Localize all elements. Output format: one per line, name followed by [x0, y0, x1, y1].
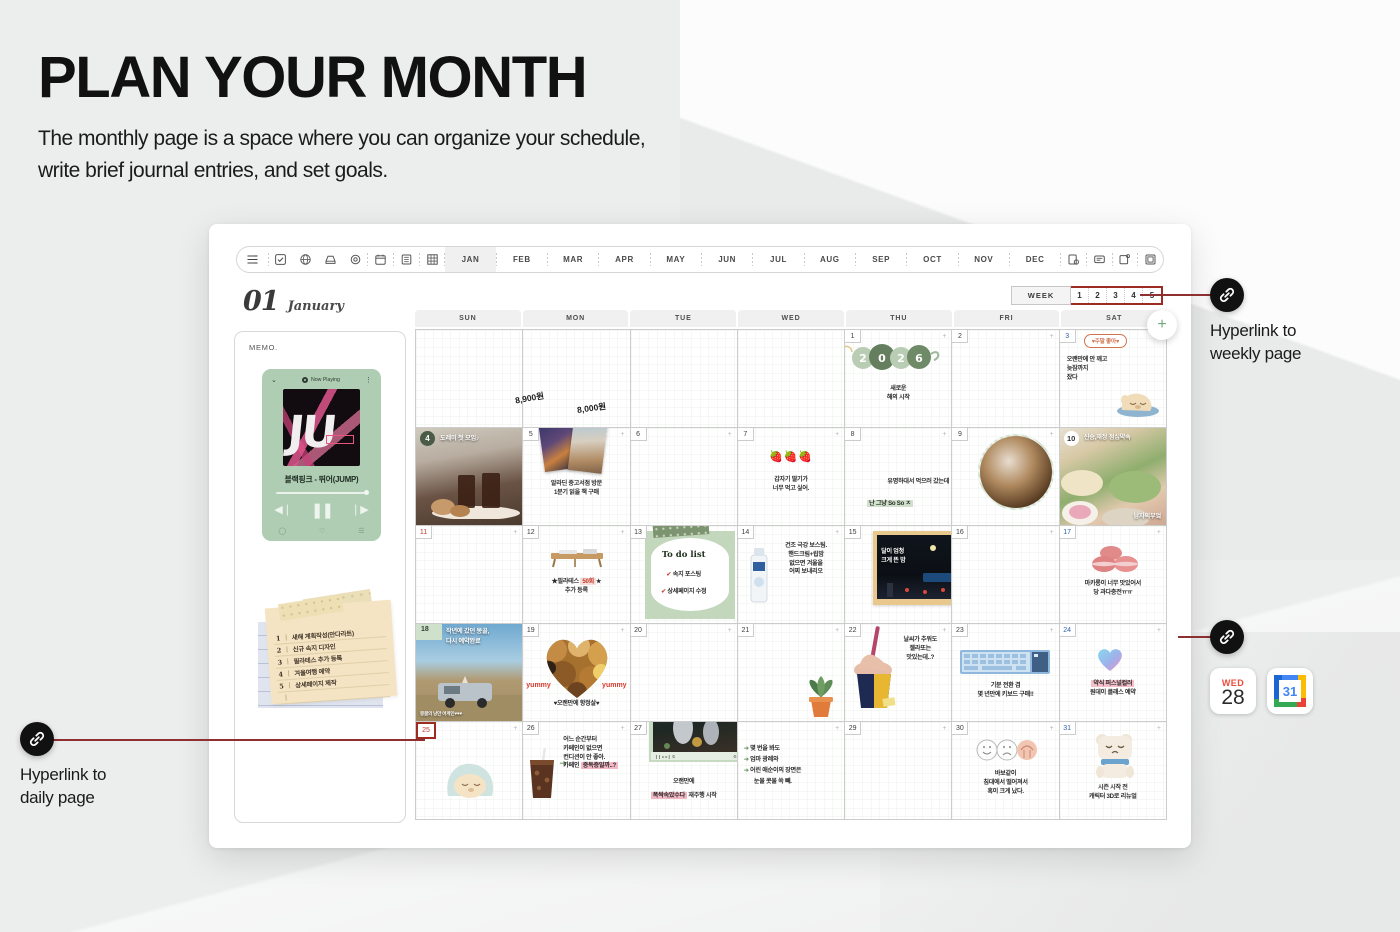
caterpillar-2026-graphic: 2 0 2 6 — [845, 342, 943, 376]
day-note-line1: 달이 엄청 — [881, 548, 904, 555]
week-link-2[interactable]: 2 — [1089, 288, 1107, 303]
add-icon[interactable]: + — [834, 530, 840, 536]
tab-month-apr[interactable]: APR — [599, 247, 649, 272]
annotation-daily-text: Hyperlink to daily page — [20, 764, 200, 810]
day-note[interactable]: 약식 퍼스널컬러 원데이 클래스 예약 — [1060, 680, 1166, 698]
todo-divider: | — [288, 682, 290, 689]
more-icon[interactable]: ⋮ — [365, 376, 372, 384]
memo-label: MEMO. — [249, 343, 278, 352]
day-note-line1: 오랜만에 안 깨고 — [1067, 356, 1107, 363]
next-icon[interactable]: ❘▶ — [351, 503, 369, 516]
weekday-mon: MON — [523, 310, 629, 327]
video-controls[interactable]: ❙❙ ▸ ▸❙ ⏲ ⚙ ⛶ — [651, 752, 738, 760]
plant-pot-icon — [804, 675, 838, 719]
add-icon[interactable]: + — [834, 432, 840, 438]
day-note[interactable]: 갑자기 딸기가 너무 먹고 싶어. — [738, 476, 844, 494]
day-cell-25[interactable]: 25 + — [416, 722, 523, 820]
gcal-day-number: 31 — [1279, 680, 1301, 702]
day-note-line4: 카페인 중독증일까..? — [563, 762, 618, 769]
book-cover-2[interactable] — [568, 428, 609, 474]
day-cell-24[interactable]: 24 + 약식 퍼스널컬러 원데이 클래스 예약 — [1060, 624, 1167, 722]
add-icon[interactable]: + — [620, 628, 626, 634]
day-note[interactable]: 오랜만에 안 깨고 늦잠까지 잤다 — [1067, 356, 1107, 382]
day-caption: 작년에 갔던 몽골, 다시 예약완료 — [446, 627, 489, 647]
note-add-icon[interactable] — [1061, 247, 1086, 272]
day-caption: 신승,재정 점심약속 — [1084, 432, 1131, 441]
day-note-line2: 추가 등록 — [565, 587, 588, 594]
now-playing-text: Now Playing — [311, 377, 340, 383]
hyperlink-icon — [20, 722, 54, 756]
pause-icon[interactable]: ❚❚ — [311, 501, 332, 519]
album-art — [283, 389, 360, 466]
day-number: 12 — [523, 526, 539, 539]
page-subtitle-line1: The monthly page is a space where you ca… — [38, 127, 645, 150]
todo-divider: | — [285, 694, 287, 701]
add-icon[interactable]: + — [834, 726, 840, 732]
tab-month-oct[interactable]: OCT — [907, 247, 957, 272]
day-caption-secondary: 남자의부엌 — [1134, 511, 1161, 520]
day-note-line2: 젤라또는 — [910, 645, 931, 652]
tab-month-may[interactable]: MAY — [651, 247, 701, 272]
day-number: 14 — [738, 526, 754, 539]
add-icon[interactable]: + — [1049, 726, 1055, 732]
day-cell-15[interactable]: 15 달이 엄청 크게 뜬 밤 — [845, 526, 952, 624]
todo-text: 신규 속지 디자인 — [292, 642, 335, 654]
annotation-daily-line2: daily page — [20, 788, 95, 807]
page-subtitle: The monthly page is a space where you ca… — [38, 123, 938, 188]
day-note-line1: 마카롱이 너무 맛있어서 — [1085, 580, 1141, 587]
annotation-daily-line1: Hyperlink to — [20, 765, 106, 784]
day-note-highlight: 폭싹속았수다 — [651, 792, 687, 799]
day-number: 23 — [952, 624, 968, 637]
day-note[interactable]: 날씨가 추워도 젤라또는 맛있는데..? — [891, 636, 949, 662]
month-name: January — [288, 299, 344, 314]
day-number: 4 — [420, 431, 435, 446]
day-note-line3: 컨디션이 안 좋아. — [563, 754, 605, 761]
day-note-line2: 1분기 읽을 책 구매 — [554, 489, 599, 496]
todo-card-item-1-text: 속지 포스팅 — [673, 571, 701, 578]
day-cell-4[interactable]: 4 도레미 첫 모임♪ — [416, 428, 523, 526]
add-event-fab[interactable]: + — [1147, 310, 1177, 340]
day-number-hyperlink[interactable]: 25 — [416, 722, 436, 739]
progress-slider[interactable] — [276, 492, 367, 494]
add-icon[interactable]: + — [620, 432, 626, 438]
heart-food-photo — [539, 634, 615, 700]
day-note-line3: 맛있는데..? — [906, 654, 934, 661]
apple-calendar-icon[interactable]: WED 28 — [1210, 668, 1256, 714]
add-icon[interactable]: + — [1156, 628, 1162, 634]
day-note[interactable]: 새로운 해의 시작 — [845, 385, 951, 403]
day-cell-18[interactable]: 18 작년에 갔던 몽골, 다시 예약완료 몽골의 낭만 어게인♥♥♥ — [416, 624, 523, 722]
todo-divider: | — [288, 670, 290, 677]
day-cell-empty[interactable] — [416, 330, 523, 428]
todo-list: 1|새해 계획작성(만다라트) 2|신규 속지 디자인 3|필라테스 추가 등록… — [274, 625, 398, 705]
day-cell-9[interactable]: 9 + — [952, 428, 1059, 526]
google-calendar-icon[interactable]: 31 — [1267, 668, 1313, 714]
gear-icon[interactable] — [343, 247, 368, 272]
day-note-line1: 날씨가 추워도 — [903, 636, 937, 643]
day-number: 30 — [952, 722, 968, 735]
tab-month-jul[interactable]: JUL — [753, 247, 803, 272]
day-note-line2: 침대에서 떨어져서 — [983, 779, 1027, 786]
new-page-icon[interactable] — [1113, 247, 1138, 272]
memo-panel: MEMO. ⌄ Now Playing ⋮ 블랙핑크 - 뛰어(JUMP) ◀❘… — [234, 331, 406, 823]
weekday-wed: WED — [738, 310, 844, 327]
tab-month-nov[interactable]: NOV — [959, 247, 1009, 272]
add-icon[interactable]: + — [941, 628, 947, 634]
day-cell-11[interactable]: 11 + — [416, 526, 523, 624]
day-number: 2 — [952, 330, 968, 343]
day-number: 22 — [845, 624, 861, 637]
day-number: 21 — [738, 624, 754, 637]
gradient-heart-icon — [1096, 646, 1124, 672]
weekday-fri: FRI — [954, 310, 1060, 327]
svg-text:6: 6 — [915, 352, 923, 365]
day-note-highlight: 중독증일까..? — [581, 762, 618, 769]
day-note-line1: 바보같이 — [995, 770, 1016, 777]
todo-card-item-1[interactable]: ✔ 속지 포스팅 — [631, 571, 737, 580]
day-note[interactable]: 바보같이 침대에서 떨어져서 혹이 크게 났다. — [952, 770, 1058, 796]
day-cell-20[interactable]: 20 + — [631, 624, 738, 722]
calendar-list-icon[interactable] — [394, 247, 419, 272]
day-cell-16[interactable]: 16 + — [952, 526, 1059, 624]
todo-divider: | — [285, 634, 287, 641]
annotation-weekly-line2: weekly page — [1210, 344, 1301, 363]
add-icon[interactable]: + — [941, 334, 947, 340]
day-number: 11 — [416, 526, 432, 539]
day-cell-22[interactable]: 22 + 날씨가 추워도 젤라또는 맛있는데..? — [845, 624, 952, 722]
day-note[interactable]: 달이 엄청 크게 뜬 밤 — [881, 548, 905, 566]
calendar-week-row: 25 + 26 + — [416, 722, 1167, 820]
playback-icons: ❙❙ ▸ ▸❙ ⏲ — [655, 754, 676, 759]
day-cell-3[interactable]: 3 + ♥주말 좋아♥ 오랜만에 안 깨고 늦잠까지 잤다 — [1060, 330, 1167, 428]
tab-month-feb[interactable]: FEB — [497, 247, 547, 272]
add-icon[interactable]: + — [1156, 530, 1162, 536]
month-title: 01 January — [243, 286, 344, 317]
drama-scene-detail — [653, 722, 738, 752]
add-icon[interactable]: + — [727, 432, 733, 438]
day-note[interactable]: 알라딘 중고서점 방문 1분기 읽을 책 구매 — [523, 480, 629, 498]
day-caption-footer: 몽골의 낭만 어게인♥♥♥ — [420, 711, 462, 717]
todo-card-item-2[interactable]: ✔ 상세페이지 수정 — [631, 588, 737, 597]
highlight-count: 50회 — [580, 578, 596, 585]
add-icon[interactable]: + — [512, 726, 518, 732]
day-caption: 도레미 첫 모임♪ — [440, 433, 479, 442]
add-icon[interactable]: + — [1049, 628, 1055, 634]
day-note-line2: 난 그냥 So So ㅈ — [867, 500, 913, 507]
day-cell-26[interactable]: 26 + ➜ 어느 순간부터 카페인이 없으면 컨디션이 안 좋아. — [523, 722, 630, 820]
add-icon[interactable]: + — [727, 628, 733, 634]
sticky-notes: 1|새해 계획작성(만다라트) 2|신규 속지 디자인 3|필라테스 추가 등록… — [251, 594, 401, 709]
player-controls: ◀❘ ❚❚ ❘▶ — [262, 501, 381, 519]
washi-tape-icon — [278, 594, 344, 621]
day-note-line1: 몇 번을 봐도 — [750, 745, 780, 752]
inbox-icon[interactable] — [318, 247, 343, 272]
globe-icon[interactable] — [293, 247, 318, 272]
day-cell-empty[interactable] — [738, 330, 845, 428]
day-cell-12[interactable]: 12 + ★필라테스 50회★ 추가 등록 — [523, 526, 630, 624]
heart-icon[interactable]: ♡ — [319, 527, 325, 535]
tab-month-jan[interactable]: JAN — [445, 247, 495, 272]
add-icon[interactable]: + — [1049, 432, 1055, 438]
day-caption-line2: 다시 예약완료 — [446, 638, 480, 645]
day-note[interactable]: ➜ 몇 번을 봐도 ➜ 엄마 광례와 ➜ 어린 애순이의 장면은 눈물 콧물 쏙… — [744, 744, 842, 788]
todo-sticky-note[interactable]: 1|새해 계획작성(만다라트) 2|신규 속지 디자인 3|필라테스 추가 등록… — [265, 600, 397, 705]
day-note-line2: 몇 년만에 키보드 구매!! — [977, 691, 1033, 698]
day-note-line1[interactable]: 오랜만에 — [631, 778, 737, 787]
day-note[interactable]: 마카롱이 너무 맛있어서 당 과다충전ㅠㅠ — [1060, 580, 1166, 598]
blanket-bear-sticker — [442, 756, 500, 800]
day-note[interactable]: 기분 전환 겸 몇 년만에 키보드 구매!! — [952, 682, 1058, 700]
calendar-grid-icon[interactable] — [420, 247, 445, 272]
day-number: 31 — [1060, 722, 1076, 735]
add-icon[interactable]: + — [620, 530, 626, 536]
day-cell-28[interactable]: + ➜ 몇 번을 봐도 ➜ 엄마 광례와 ➜ 어린 애순이의 장면은 눈물 콧물… — [738, 722, 845, 820]
day-note-line3: 없으면 겨울을 — [789, 560, 823, 567]
day-note-line1: 어느 순간부터 — [563, 736, 597, 743]
music-player-widget: ⌄ Now Playing ⋮ 블랙핑크 - 뛰어(JUMP) ◀❘ ❚❚ ❘▶… — [262, 369, 381, 541]
calendar-week-row: 11 + 12 + ★필라테스 50회★ — [416, 526, 1167, 624]
svg-text:0: 0 — [878, 352, 886, 365]
cafe-photo-detail — [430, 467, 522, 519]
day-number: 9 — [952, 428, 968, 441]
day-note-line2: 당 과다충전ㅠㅠ — [1093, 589, 1132, 596]
gcal-glyph: 31 — [1274, 675, 1306, 707]
tab-month-jun[interactable]: JUN — [702, 247, 752, 272]
weekday-tue: TUE — [630, 310, 736, 327]
weekend-badge[interactable]: ♥주말 좋아♥ — [1084, 334, 1127, 348]
todo-number: 2 — [276, 646, 281, 654]
week-link-3[interactable]: 3 — [1107, 288, 1125, 303]
track-title: 블랙핑크 - 뛰어(JUMP) — [262, 474, 381, 485]
day-number: 17 — [1060, 526, 1076, 539]
previous-icon[interactable]: ◀❘ — [274, 503, 292, 516]
macaron-icon — [1090, 544, 1146, 574]
day-cell-30[interactable]: 30 + 바보같이 — [952, 722, 1059, 820]
player-topbar: ⌄ Now Playing ⋮ — [262, 369, 381, 384]
day-number: 1 — [845, 330, 861, 343]
calendar-weekday-header: SUN MON TUE WED THU FRI SAT — [415, 310, 1167, 327]
day-note-line2: 해의 시작 — [887, 394, 910, 401]
day-cell-21[interactable]: 21 + — [738, 624, 845, 722]
hand-cream-tube-icon — [748, 546, 770, 604]
sushi-photo[interactable] — [980, 436, 1052, 508]
day-number: 13 — [631, 526, 647, 539]
day-cell-31[interactable]: 31 + 시즌 시작 전 — [1060, 722, 1167, 820]
day-cell-23[interactable]: 23 + — [952, 624, 1059, 722]
annotation-daily: Hyperlink to daily page — [20, 722, 200, 810]
disc-icon — [302, 377, 308, 383]
page-header: PLAN YOUR MONTH The monthly page is a sp… — [38, 48, 938, 188]
day-number: 18 — [421, 626, 429, 633]
keyboard-icon — [960, 648, 1050, 676]
day-note-line1: 시즌 시작 전 — [1098, 784, 1128, 791]
toolbar: JAN FEB MAR APR MAY JUN JUL AUG SEP OCT … — [236, 246, 1164, 273]
day-cell-13[interactable]: 13 To do list ✔ 속지 포스팅 ✔ 상세페이지 수정 — [631, 526, 738, 624]
add-icon[interactable]: + — [620, 726, 626, 732]
annotation-weekly-line1: Hyperlink to — [1210, 321, 1296, 340]
day-note-line1: 알라딘 중고서점 방문 — [551, 480, 602, 487]
tab-month-aug[interactable]: AUG — [805, 247, 855, 272]
add-icon[interactable]: + — [1049, 530, 1055, 536]
tab-month-dec[interactable]: DEC — [1010, 247, 1060, 272]
calendar-day-icon[interactable] — [368, 247, 393, 272]
annotation-weekly-text: Hyperlink to weekly page — [1210, 320, 1380, 366]
day-number: 19 — [523, 624, 539, 637]
todo-number: 5 — [279, 682, 284, 690]
day-cell-29[interactable]: 29 + — [845, 722, 952, 820]
svg-text:2: 2 — [859, 352, 867, 365]
add-icon[interactable]: + — [834, 628, 840, 634]
day-note-line2: 늦잠까지 — [1067, 365, 1088, 372]
strawberry-emoji: 🍓🍓🍓 — [738, 450, 844, 463]
day-note[interactable]: ★필라테스 50회★ 추가 등록 — [523, 578, 629, 596]
day-cell-2[interactable]: 2 + — [952, 330, 1059, 428]
todo-card-item-2-text: 상세페이지 수정 — [667, 588, 706, 595]
day-cell-6[interactable]: 6 + — [631, 428, 738, 526]
sleeping-bear-sticker — [1116, 386, 1162, 418]
yummy-label-left: yummy — [526, 682, 551, 689]
todo-number: 1 — [276, 634, 281, 642]
annotation-weekly: Hyperlink to weekly page — [1210, 278, 1380, 366]
night-scene-detail — [877, 535, 952, 599]
day-note-line1: 새로운 — [890, 385, 906, 392]
day-note-line3: 어린 애순이의 장면은 — [750, 767, 801, 774]
day-note-line1[interactable]: ♥오랜만에 항정살♥ — [523, 700, 629, 709]
app-window: JAN FEB MAR APR MAY JUN JUL AUG SEP OCT … — [209, 224, 1191, 848]
day-note-line2: 핸드크림+립밤 — [788, 551, 823, 558]
day-note-line1: 갑자기 딸기가 — [774, 476, 808, 483]
hyperlink-icon — [1210, 620, 1244, 654]
tab-month-mar[interactable]: MAR — [548, 247, 598, 272]
add-icon[interactable]: + — [941, 432, 947, 438]
week-label: WEEK — [1011, 286, 1071, 305]
month-number: 01 — [243, 286, 279, 317]
day-cell-17[interactable]: 17 + 마카롱이 너무 맛있어서 당 과다충전ㅠㅠ — [1060, 526, 1167, 624]
day-number: 7 — [738, 428, 754, 441]
week-link-1[interactable]: 1 — [1071, 288, 1089, 303]
day-number: 6 — [631, 428, 647, 441]
day-cell-27[interactable]: 27 ❙❙ ▸ ▸❙ ⏲ ⚙ ⛶ 오랜만에 폭싹속았수다 재주행 시작 — [631, 722, 738, 820]
queue-icon[interactable]: ☰ — [358, 527, 364, 535]
todo-text: 상세페이지 제작 — [295, 678, 337, 690]
day-note-line1: 기분 전환 겸 — [991, 682, 1021, 689]
weekday-sun: SUN — [415, 310, 521, 327]
calendar-week-row: 18 작년에 갔던 몽골, 다시 예약완료 몽골의 낭만 어게인♥♥♥ 19 + — [416, 624, 1167, 722]
add-icon[interactable]: + — [512, 530, 518, 536]
day-note-line1: 건조 극강 보스팀. — [785, 542, 827, 549]
day-cell-7[interactable]: 7 + 🍓🍓🍓 갑자기 딸기가 너무 먹고 싶어. — [738, 428, 845, 526]
day-note-line1[interactable]: 유명하대서 먹으러 갔는데 — [847, 478, 952, 487]
yummy-label-right: yummy — [602, 682, 627, 689]
day-note-line2: 캐릭터 3D로 리뉴얼 — [1089, 793, 1137, 800]
weekday-thu: THU — [846, 310, 952, 327]
annotation-app-links: WED 28 31 — [1210, 620, 1380, 714]
day-cell-1[interactable]: 1 + 2 0 2 6 새로운 — [845, 330, 952, 428]
todo-divider: | — [287, 658, 289, 665]
todo-number: 3 — [277, 658, 282, 666]
now-playing-label: Now Playing — [302, 377, 340, 383]
arrow-right-icon: ➜ — [744, 756, 749, 763]
day-caption-line1: 작년에 갔던 몽골, — [446, 628, 489, 635]
day-cell-19[interactable]: 19 + yummy yummy ♥오랜만에 항 — [523, 624, 630, 722]
chevron-down-icon[interactable]: ⌄ — [271, 376, 277, 384]
layout-icon[interactable] — [1138, 247, 1163, 272]
add-icon[interactable]: + — [1049, 334, 1055, 340]
day-note-line2[interactable]: 폭싹속았수다 재주행 시작 — [631, 792, 737, 801]
svg-text:2: 2 — [897, 352, 905, 365]
arrow-right-icon: ➜ — [744, 767, 749, 774]
day-note-line3: 잤다 — [1067, 374, 1078, 381]
player-footer: ◯ ♡ ☰ — [262, 527, 381, 535]
day-number: 24 — [1060, 624, 1076, 637]
day-note[interactable]: 어느 순간부터 카페인이 없으면 컨디션이 안 좋아. 카페인 중독증일까..? — [563, 736, 627, 771]
day-number: 29 — [845, 722, 861, 735]
day-number: 8 — [845, 428, 861, 441]
hamburger-icon[interactable] — [237, 247, 268, 272]
arrow-right-icon: ➜ — [744, 745, 749, 752]
day-note-line2: 크게 뜬 밤 — [881, 557, 905, 564]
day-note-line1: 약식 퍼스널컬러 — [1091, 680, 1134, 687]
day-number: 15 — [845, 526, 861, 539]
todo-card-title: To do list — [631, 550, 737, 560]
day-note-line1: ★필라테스 50회★ — [552, 578, 602, 585]
calendar-week-row: 1 + 2 0 2 6 새로운 — [416, 330, 1167, 428]
checkbox-icon[interactable] — [269, 247, 294, 272]
iced-coffee-icon — [525, 748, 559, 800]
page-subtitle-line2: write brief journal entries, and set goa… — [38, 159, 388, 182]
day-note[interactable]: 시즌 시작 전 캐릭터 3D로 리뉴얼 — [1060, 784, 1166, 802]
day-note-line3: 혹이 크게 났다. — [987, 788, 1023, 795]
todo-text: 겨울여행 예약 — [294, 666, 330, 677]
day-number: 5 — [523, 428, 539, 441]
calendar: SUN MON TUE WED THU FRI SAT 1 + — [415, 310, 1167, 825]
calendar-week-row: 4 도레미 첫 모임♪ 5 + 알라딘 중고서점 방문 1분기 읽을 책 구매 … — [416, 428, 1167, 526]
day-cell-8[interactable]: 8 + 유명하대서 먹으러 갔는데 난 그냥 So So ㅈ — [845, 428, 952, 526]
mood-faces-icons[interactable] — [976, 738, 1038, 762]
day-number: 27 — [631, 722, 647, 735]
sticker-icon[interactable] — [1087, 247, 1112, 272]
pilates-reformer-icon — [545, 542, 609, 570]
day-cell-10[interactable]: 10 신승,재정 점심약속 남자의부엌 — [1060, 428, 1167, 526]
day-note-line2: 원데이 클래스 예약 — [1090, 689, 1136, 696]
day-cell-empty[interactable] — [631, 330, 738, 428]
linked-app-icons: WED 28 31 — [1210, 668, 1380, 714]
add-icon[interactable]: + — [1156, 726, 1162, 732]
day-number: 26 — [523, 722, 539, 735]
todo-divider: | — [286, 646, 288, 653]
add-icon[interactable]: + — [941, 726, 947, 732]
bear-character-3d — [1092, 732, 1138, 780]
day-note-line2: 카페인이 없으면 — [563, 745, 602, 752]
day-number: 16 — [952, 526, 968, 539]
apple-calendar-day: 28 — [1221, 687, 1244, 708]
day-number: 20 — [631, 624, 647, 637]
day-cell-14[interactable]: 14 + 건조 극강 보스팀. 핸드크림+립밤 없으면 겨울을 어찌 보내리오 — [738, 526, 845, 624]
day-note-line2: 너무 먹고 싶어. — [773, 485, 809, 492]
hyperlink-icon — [1210, 278, 1244, 312]
shuffle-icon[interactable]: ◯ — [278, 527, 286, 535]
day-note[interactable]: 건조 극강 보스팀. 핸드크림+립밤 없으면 겨울을 어찌 보내리오 — [770, 542, 842, 577]
day-number: 3 — [1060, 330, 1076, 343]
day-note-line4: 눈물 콧물 쏙 빼. — [744, 778, 792, 785]
day-number: 10 — [1064, 431, 1079, 446]
page-title: PLAN YOUR MONTH — [38, 48, 938, 109]
day-note-line4: 어찌 보내리오 — [789, 568, 823, 575]
day-cell-5[interactable]: 5 + 알라딘 중고서점 방문 1분기 읽을 책 구매 — [523, 428, 630, 526]
tab-month-sep[interactable]: SEP — [856, 247, 906, 272]
day-number-bg — [416, 624, 442, 640]
